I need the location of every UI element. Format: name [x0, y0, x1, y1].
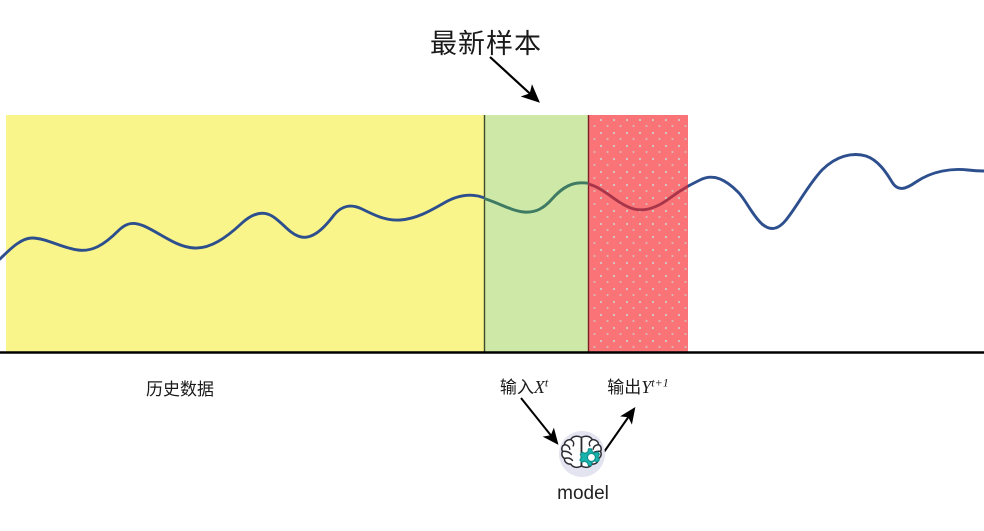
- region-label-history: 历史数据: [100, 375, 260, 400]
- latest-sample-title: 最新样本: [0, 22, 984, 61]
- model-caption: model: [523, 483, 643, 505]
- curve-segment-future: [668, 155, 984, 229]
- latest-sample-title-text: 最新样本: [430, 29, 542, 59]
- model-caption-text: model: [557, 483, 609, 504]
- output-label-prefix: 输出: [607, 378, 641, 397]
- region-history-band: [6, 115, 484, 352]
- input-to-model-arrow: [521, 398, 557, 443]
- input-label-superscript: t: [545, 375, 548, 389]
- region-forecast-texture: [588, 115, 688, 352]
- model-icon: [553, 428, 613, 482]
- latest-sample-arrow: [490, 57, 538, 101]
- timeseries-forecast-diagram: [0, 0, 984, 531]
- diagram-canvas: 最新样本 历史数据 输入Xt 输出Yt+1 model: [0, 0, 984, 531]
- region-input-band: [484, 115, 588, 352]
- input-label-prefix: 输入: [500, 378, 534, 397]
- output-label-variable: Y: [641, 377, 651, 397]
- output-label-superscript: t+1: [651, 375, 668, 389]
- region-label-history-text: 历史数据: [146, 380, 214, 399]
- region-label-output: 输出Yt+1: [576, 373, 700, 398]
- region-label-input: 输入Xt: [466, 373, 582, 398]
- brain-gear-icon: [553, 428, 613, 482]
- region-bands: [6, 115, 688, 352]
- input-label-variable: X: [534, 377, 545, 397]
